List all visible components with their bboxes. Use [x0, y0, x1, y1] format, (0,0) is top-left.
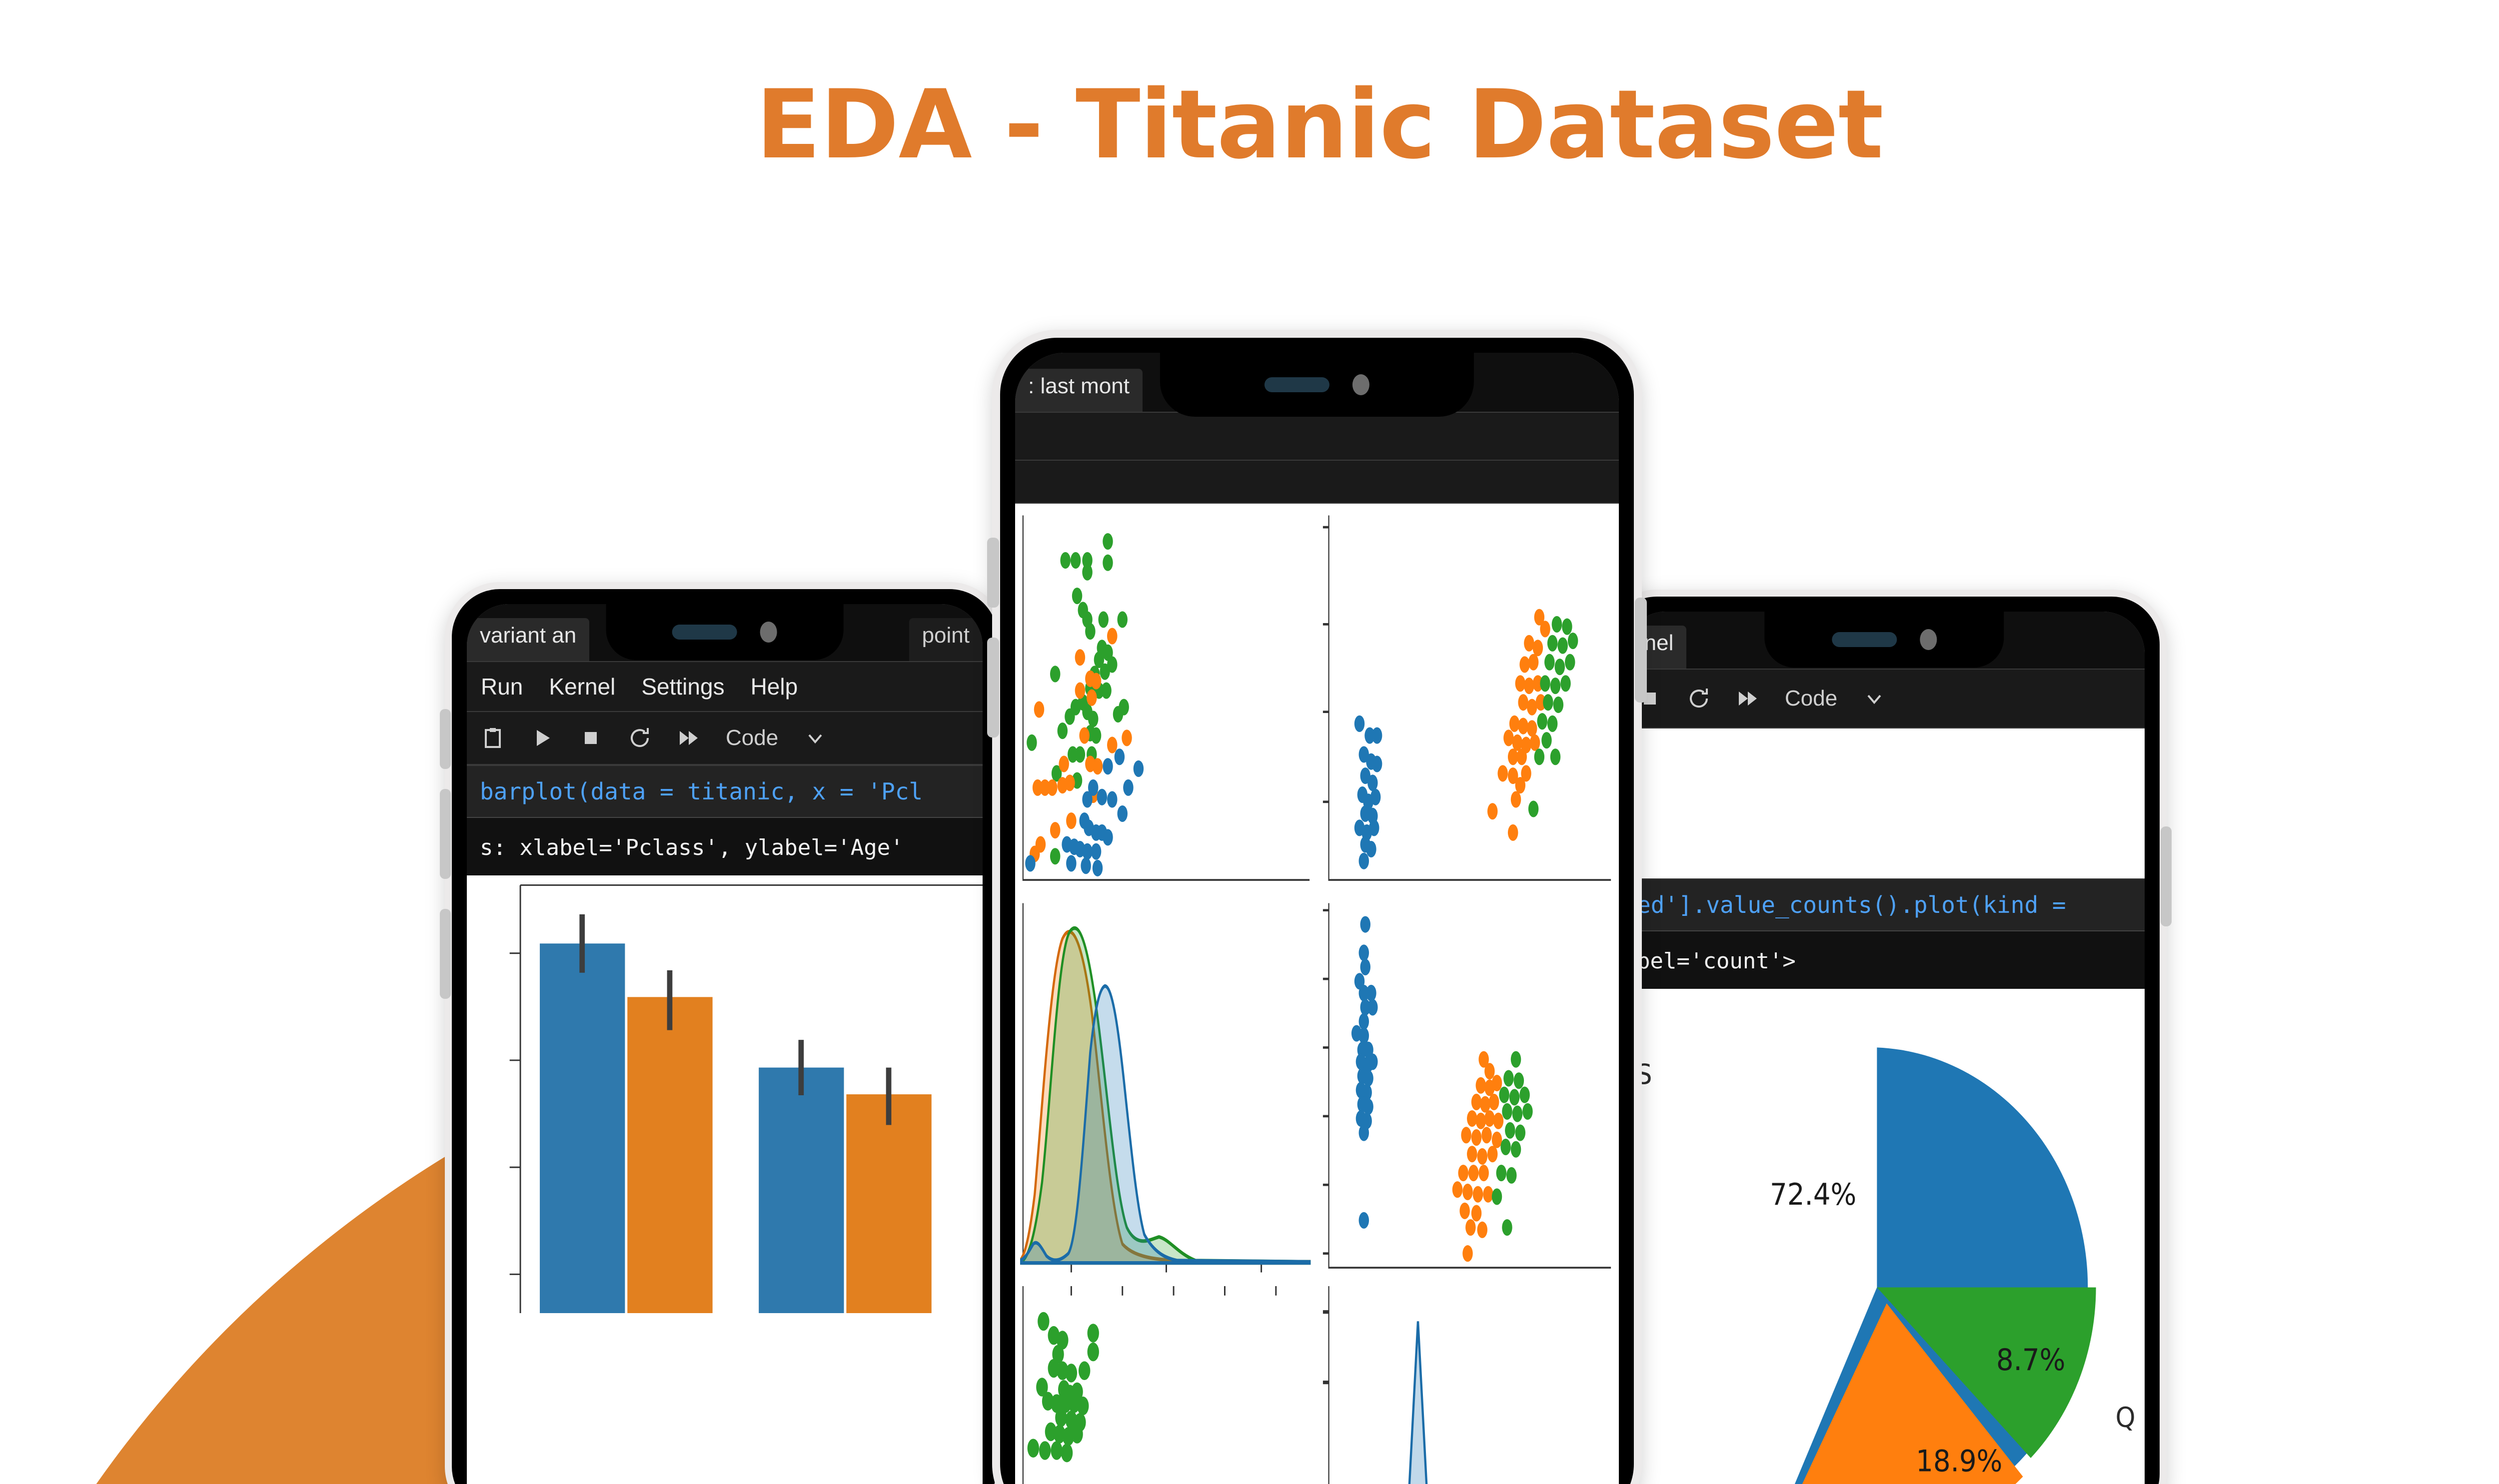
pairplot-cell-0-1 [1321, 511, 1614, 889]
pairplot-cell-0-0 [1020, 511, 1312, 889]
code-text-right: ed'].value_counts().plot(kind = [1637, 891, 2066, 918]
menu-item-settings[interactable]: Settings [641, 673, 724, 700]
barplot-svg [467, 875, 983, 1313]
cell-type-label[interactable]: Code [1785, 686, 1837, 711]
jupyter-toolbar-right: Code [1624, 670, 2145, 729]
code-text-left: barplot(data = titanic, x = 'Pcl [480, 778, 923, 805]
phone-right-screen: rnel Code ed'].value_co [1624, 612, 2145, 1484]
pairplot-cell-2-1 [1321, 1286, 1614, 1484]
phone-right-power-button[interactable] [2161, 826, 2172, 926]
phone-center: : last mont [992, 330, 1642, 1484]
phone-center-power-button[interactable] [1635, 598, 1647, 703]
phone-left-volume-down-button[interactable] [440, 789, 451, 879]
pairplot-cell-1-0 [1020, 898, 1312, 1277]
output-text-left: s: xlabel='Pclass', ylabel='Age' [467, 818, 983, 875]
speaker-icon [672, 625, 737, 640]
pie-figure: 72.4% 18.9% 8.7% S Q [1624, 989, 2145, 1484]
stop-icon[interactable] [579, 726, 603, 750]
tab-last-month[interactable]: : last mont [1015, 369, 1143, 412]
phone-left-screen: variant an point Run Kernel Settings Hel… [467, 604, 983, 1484]
output-text-right: bel='count'> [1624, 931, 2145, 989]
speaker-icon [1832, 632, 1897, 647]
menu-item-kernel[interactable]: Kernel [549, 673, 615, 700]
run-all-icon[interactable] [677, 726, 701, 750]
restart-icon[interactable] [1687, 687, 1711, 711]
pie-label-c-value: 18.9% [1916, 1444, 2002, 1479]
pairplot-cell-1-1 [1321, 898, 1614, 1277]
run-icon[interactable] [530, 726, 554, 750]
cell-type-label[interactable]: Code [726, 726, 778, 750]
pie-label-q: Q [2116, 1402, 2136, 1434]
paste-icon[interactable] [481, 726, 505, 750]
restart-icon[interactable] [628, 726, 652, 750]
phone-center-volume-down-button[interactable] [987, 638, 999, 738]
jupyter-app-left: variant an point Run Kernel Settings Hel… [467, 604, 983, 1484]
barplot-figure [467, 875, 983, 1484]
phone-center-notch [1160, 353, 1474, 417]
phone-right-notch [1764, 612, 2004, 668]
tab-point[interactable]: point [909, 618, 983, 661]
jupyter-menu-bar-left: Run Kernel Settings Help [467, 662, 983, 712]
pie-label-s-value: 72.4% [1770, 1178, 1856, 1212]
camera-icon [1352, 374, 1369, 395]
camera-icon [1920, 629, 1937, 650]
speaker-icon [1264, 377, 1329, 392]
jupyter-toolbar-center [1015, 461, 1619, 504]
prev-output-gap [1624, 729, 2145, 878]
phone-left: variant an point Run Kernel Settings Hel… [445, 582, 1005, 1484]
jupyter-app-right: rnel Code ed'].value_co [1624, 612, 2145, 1484]
phone-left-power-button[interactable] [440, 909, 451, 999]
camera-icon [760, 622, 777, 643]
menu-item-help[interactable]: Help [751, 673, 798, 700]
phone-left-volume-up-button[interactable] [440, 709, 451, 769]
chevron-down-icon[interactable] [1862, 687, 1886, 711]
code-cell-right[interactable]: ed'].value_counts().plot(kind = [1624, 878, 2145, 931]
pie-label-q-value: 8.7% [1996, 1343, 2066, 1378]
code-cell-left[interactable]: barplot(data = titanic, x = 'Pcl [467, 765, 983, 818]
pie-svg: 72.4% 18.9% 8.7% S Q [1624, 989, 2145, 1484]
pairplot-figure [1015, 504, 1619, 1484]
phone-right: rnel Code ed'].value_co [1602, 590, 2167, 1484]
jupyter-app-center: : last mont [1015, 353, 1619, 1484]
pairplot-cell-2-0 [1020, 1286, 1312, 1484]
tab-variant-analysis[interactable]: variant an [467, 618, 589, 661]
phone-left-notch [606, 604, 844, 660]
page-title: EDA - Titanic Dataset [0, 75, 2499, 175]
run-all-icon[interactable] [1736, 687, 1760, 711]
phone-center-volume-up-button[interactable] [987, 538, 999, 608]
chevron-down-icon[interactable] [803, 726, 827, 750]
menu-item-run[interactable]: Run [481, 673, 523, 700]
jupyter-menu-bar-center [1015, 413, 1619, 461]
jupyter-toolbar-left: Code [467, 712, 983, 765]
phone-center-screen: : last mont [1015, 353, 1619, 1484]
